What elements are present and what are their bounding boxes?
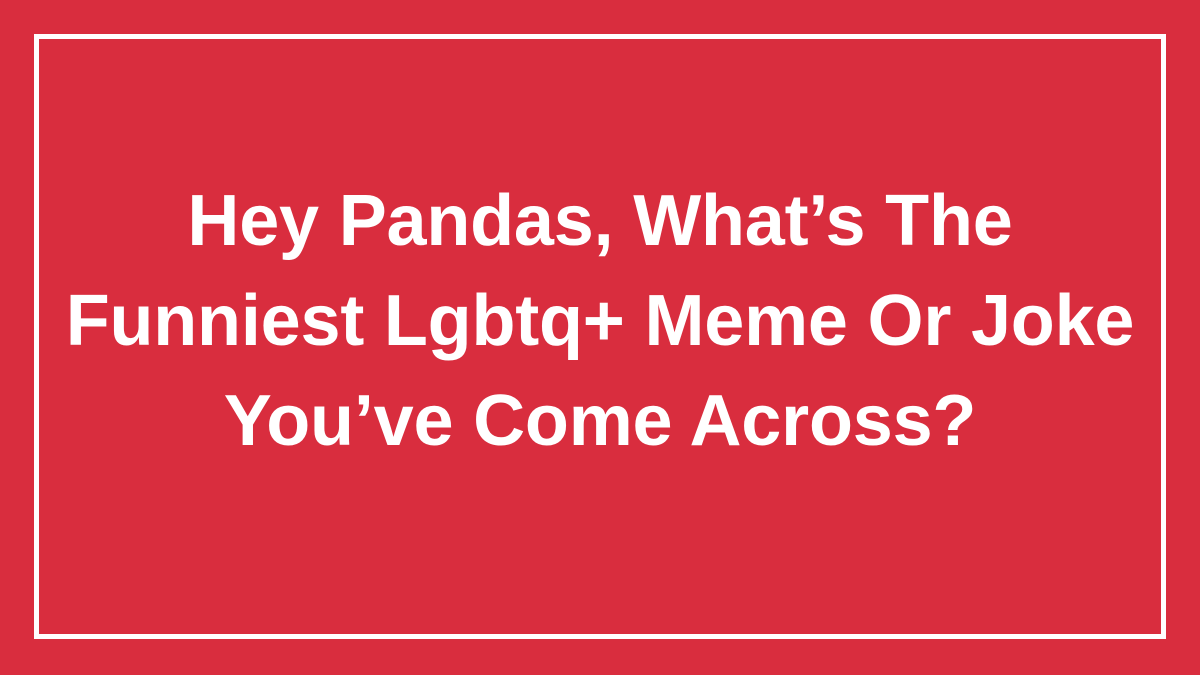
headline-line-2: Funniest Lgbtq+ Meme Or Joke	[60, 271, 1140, 371]
headline-line-3: You’ve Come Across?	[60, 371, 1140, 471]
headline-line-1: Hey Pandas, What’s The	[60, 171, 1140, 271]
page-title: Hey Pandas, What’s The Funniest Lgbtq+ M…	[0, 171, 1200, 471]
poster-card: Hey Pandas, What’s The Funniest Lgbtq+ M…	[0, 0, 1200, 675]
